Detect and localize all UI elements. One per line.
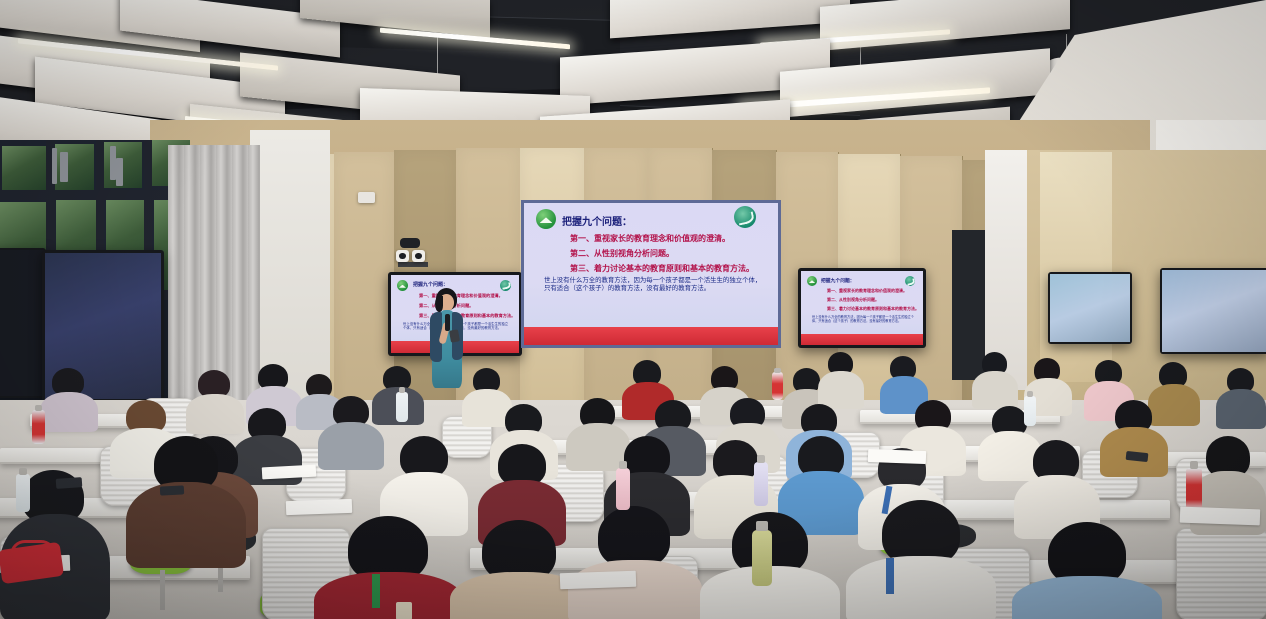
wall-camera-right[interactable] <box>412 250 425 262</box>
right-display-far-2[interactable] <box>1160 268 1266 354</box>
slide-point-3: 第三、着力讨论基本的教育原则和基本的教育方法。 <box>570 263 754 274</box>
slide-logo-left-mini <box>397 280 408 291</box>
right-mini-point-3: 第三、着力讨论基本的教育原则和基本的教育方法。 <box>827 306 919 312</box>
right-mini-accent-band <box>801 334 923 345</box>
attendee <box>1014 440 1100 534</box>
clear-water-bottle[interactable] <box>16 474 30 512</box>
slide-body: 世上没有什么万全的教育方法，因为每一个孩子都是一个活生生的独立个体，只有适合（这… <box>544 277 762 293</box>
camera-mount-arm <box>398 262 428 267</box>
attendee-foreground <box>314 516 464 619</box>
attendee <box>1100 400 1168 472</box>
lanyard-green <box>372 574 380 608</box>
window-hinge <box>52 148 57 184</box>
right-wall-panel-light <box>1040 152 1112 382</box>
smartphone[interactable] <box>160 485 184 495</box>
clear-water-bottle[interactable] <box>1024 396 1036 426</box>
microphone <box>445 314 450 331</box>
slide-logo-right-mini-r <box>905 276 915 286</box>
red-water-bottle[interactable] <box>32 410 45 444</box>
lavender-tumbler[interactable] <box>754 462 768 506</box>
slide-point-1: 第一、重视家长的教育理念和价值观的澄清。 <box>570 233 730 244</box>
chair-leg <box>160 570 165 610</box>
right-mini-slide: 把握九个问题： 第一、重视家长的教育理念和价值观的澄清。 第二、从性别视角分析问… <box>801 271 923 345</box>
chair-back[interactable] <box>1176 528 1266 619</box>
window-hinge <box>116 158 123 186</box>
attendee-foreground <box>1012 522 1162 619</box>
attendee <box>972 352 1018 406</box>
badge <box>396 602 412 619</box>
right-display-far-1[interactable] <box>1048 272 1132 344</box>
lanyard <box>886 558 894 594</box>
right-wall-display[interactable]: 把握九个问题： 第一、重视家长的教育理念和价值观的澄清。 第二、从性别视角分析问… <box>798 268 926 348</box>
right-mini-point-2: 第二、从性别视角分析问题。 <box>827 297 879 303</box>
main-slide[interactable]: 把握九个问题： 第一、重视家长的教育理念和价值观的澄清。 第二、从性别视角分析问… <box>524 203 778 345</box>
presenter-hair-side <box>435 296 443 312</box>
clear-water-bottle[interactable] <box>396 392 408 422</box>
mini-slide-heading: 把握九个问题： <box>413 281 448 288</box>
wall-camera-left[interactable] <box>396 250 409 262</box>
slide-accent-band <box>524 327 778 345</box>
smartphone[interactable] <box>56 477 83 489</box>
open-notebook[interactable] <box>1180 507 1261 526</box>
slide-heading: 把握九个问题： <box>562 213 632 228</box>
green-tumbler[interactable] <box>752 530 772 586</box>
slide-logo-right <box>734 206 756 228</box>
wall-speaker <box>358 192 375 203</box>
right-mini-body: 世上没有什么万全的教育方法，因为每一个孩子都是一个活生生的独立个体，只有适合（这… <box>812 315 916 323</box>
open-notebook[interactable] <box>868 449 926 464</box>
ptz-camera-body <box>400 238 420 248</box>
attendee-foreground <box>846 500 996 619</box>
window-hinge <box>60 152 68 182</box>
right-mini-heading: 把握九个问题： <box>821 277 855 284</box>
open-notebook[interactable] <box>560 571 637 590</box>
presenter-hand-device <box>449 329 460 342</box>
slide-point-2: 第二、从性别视角分析问题。 <box>570 248 674 259</box>
right-mini-point-1: 第一、重视家长的教育理念和价值观的澄清。 <box>827 288 907 294</box>
lecture-hall-photo: 把握九个问题： 第一、重视家长的教育理念和价值观的澄清。 第二、从性别视角分析问… <box>0 0 1266 619</box>
attendee-foreground <box>126 436 246 566</box>
red-water-bottle[interactable] <box>772 372 783 400</box>
open-notebook[interactable] <box>286 499 352 515</box>
slide-logo-right-mini <box>500 280 511 291</box>
attendee <box>40 368 98 428</box>
slide-logo-left-mini-r <box>807 276 817 286</box>
pink-tumbler[interactable] <box>616 468 630 510</box>
attendee <box>1216 368 1266 426</box>
slide-logo-left <box>536 209 556 229</box>
attendee <box>818 352 864 406</box>
red-water-bottle[interactable] <box>1186 468 1202 510</box>
red-bag-handle <box>10 540 56 555</box>
attendee <box>318 396 384 464</box>
attendee-foreground <box>568 506 702 619</box>
